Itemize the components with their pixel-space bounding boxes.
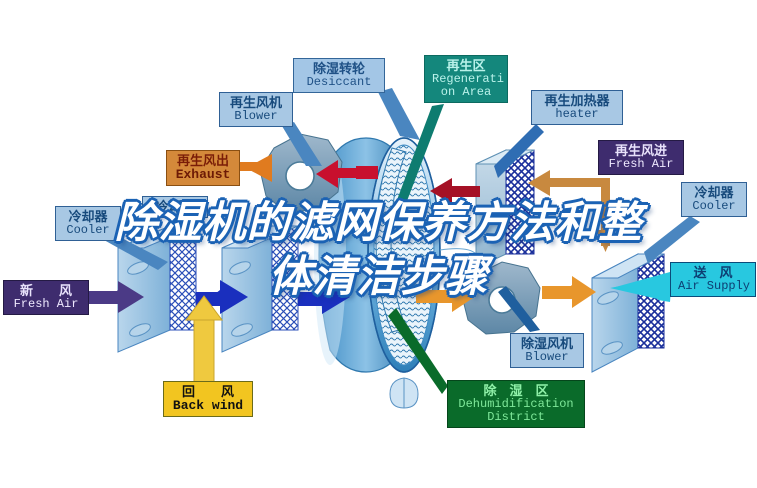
- label-exhaust[interactable]: 再生风出 Exhaust: [166, 150, 240, 186]
- label-cooler-left-1[interactable]: 冷却器 Cooler: [55, 206, 121, 241]
- label-regeneration-area-cn: 再生区: [432, 59, 500, 73]
- label-dehumidification-blower[interactable]: 除湿风机 Blower: [510, 333, 584, 368]
- label-regeneration-area[interactable]: 再生区 Regenerati on Area: [424, 55, 508, 103]
- label-regeneration-blower[interactable]: 再生风机 Blower: [219, 92, 293, 127]
- label-cooler-left-1-cn: 冷却器: [63, 210, 113, 224]
- blower-out-arrow: [542, 276, 596, 308]
- label-air-supply-cn: 送 风: [678, 266, 748, 280]
- label-regeneration-heater[interactable]: 再生加热器 heater: [531, 90, 623, 125]
- label-fresh-air-in[interactable]: 新 风 Fresh Air: [3, 280, 89, 315]
- label-desiccant-rotor[interactable]: 除湿转轮 Desiccant: [293, 58, 385, 93]
- label-fresh-air-in-cn: 新 风: [11, 284, 81, 298]
- fresh-air-riser-arrow: [596, 180, 615, 252]
- label-cooler-left-2-cn: 冷却器: [150, 200, 200, 214]
- label-desiccant-rotor-cn: 除湿转轮: [301, 62, 377, 76]
- label-dehumidification-blower-cn: 除湿风机: [518, 337, 576, 351]
- label-air-supply[interactable]: 送 风 Air Supply: [670, 262, 756, 297]
- label-back-wind[interactable]: 回 风 Back wind: [163, 381, 253, 417]
- label-regeneration-heater-en: heater: [539, 108, 615, 121]
- label-dehumidification-blower-en: Blower: [518, 351, 576, 364]
- label-cooler-left-1-en: Cooler: [63, 224, 113, 237]
- label-dehumidification-district[interactable]: 除 湿 区 Dehumidification District: [447, 380, 585, 428]
- label-exhaust-en: Exhaust: [174, 168, 232, 182]
- label-cooler-right-cn: 冷却器: [689, 186, 739, 200]
- label-desiccant-rotor-en: Desiccant: [301, 76, 377, 89]
- label-air-supply-en: Air Supply: [678, 280, 748, 293]
- label-regeneration-area-en-line2: on Area: [432, 86, 500, 99]
- label-back-wind-cn: 回 风: [171, 385, 245, 399]
- label-cooler-right-en: Cooler: [689, 200, 739, 213]
- label-back-wind-en: Back wind: [171, 399, 245, 413]
- label-regeneration-blower-cn: 再生风机: [227, 96, 285, 110]
- label-regeneration-fresh-air-in-cn: 再生风进: [606, 144, 676, 158]
- label-cooler-right[interactable]: 冷却器 Cooler: [681, 182, 747, 217]
- label-regeneration-heater-cn: 再生加热器: [539, 94, 615, 108]
- label-dehumidification-district-cn: 除 湿 区: [455, 384, 577, 398]
- label-fresh-air-in-en: Fresh Air: [11, 298, 81, 311]
- label-regeneration-blower-en: Blower: [227, 110, 285, 123]
- diagram-canvas: XY: [0, 0, 757, 488]
- supply-filter: [592, 254, 664, 372]
- label-dehumidification-district-en-line2: District: [455, 411, 577, 424]
- heater-feed-arrow: [430, 178, 480, 204]
- label-cooler-left-2[interactable]: 冷却器: [142, 196, 208, 218]
- label-exhaust-cn: 再生风出: [174, 154, 232, 168]
- label-regeneration-fresh-air-in-en: Fresh Air: [606, 158, 676, 171]
- label-regeneration-fresh-air-in[interactable]: 再生风进 Fresh Air: [598, 140, 684, 175]
